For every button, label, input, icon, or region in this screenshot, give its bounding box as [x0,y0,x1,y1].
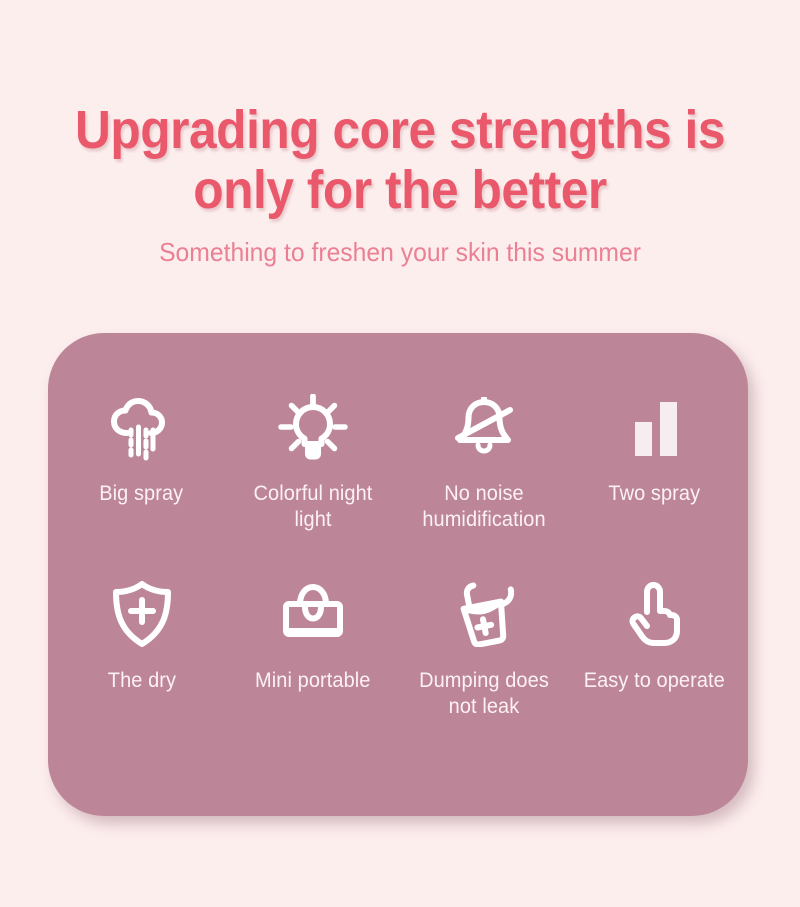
bar-chart-icon [619,393,691,465]
feature-card: Big spray [48,333,748,816]
feature-label: Mini portable [255,668,370,694]
feature-label: Big spray [99,481,183,507]
feature-item-mini-portable: Mini portable [227,578,398,763]
feature-item-night-light: Colorful night light [227,393,398,578]
pointing-hand-icon [619,578,691,650]
shield-plus-icon [106,578,178,650]
feature-label: The dry [107,668,175,694]
feature-label: Easy to operate [584,668,725,694]
feature-grid: Big spray [56,393,740,763]
page-header: Upgrading core strengths is only for the… [0,100,800,267]
promo-page: Upgrading core strengths is only for the… [0,0,800,907]
feature-item-no-noise: No noise humidification [398,393,569,578]
tilted-cup-plus-icon [448,578,520,650]
feature-item-no-leak: Dumping does not leak [398,578,569,763]
feature-label: Colorful night light [237,481,389,533]
feature-label: Dumping does not leak [408,668,560,720]
lightbulb-rays-icon [277,393,349,465]
feature-item-two-spray: Two spray [569,393,740,578]
feature-label: No noise humidification [408,481,560,533]
feature-item-easy-to-operate: Easy to operate [569,578,740,763]
page-title: Upgrading core strengths is only for the… [32,100,768,220]
bell-slash-icon [448,393,520,465]
feature-label: Two spray [609,481,701,507]
cloud-rain-icon [106,393,178,465]
feature-item-big-spray: Big spray [56,393,227,578]
feature-item-the-dry: The dry [56,578,227,763]
handbag-icon [277,578,349,650]
page-subtitle: Something to freshen your skin this summ… [20,237,780,267]
